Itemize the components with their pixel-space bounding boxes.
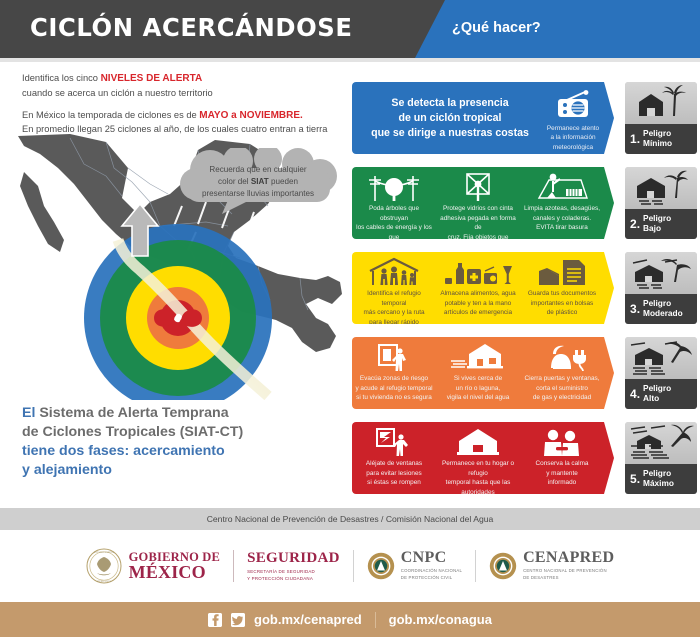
alert-item-3-1: Identifica el refugio temporal más cerca…: [352, 252, 436, 324]
alert-band-1-icon-caption: Permanece atento a la información meteor…: [544, 124, 602, 152]
alert-badge-2-label: 2. PeligroBajo: [625, 209, 697, 239]
band1-msg-line1: Se detecta la presencia: [391, 97, 508, 109]
alert-item-4-2: Si vives cerca de un río o laguna, vigil…: [436, 337, 520, 409]
social-link-conagua[interactable]: gob.mx/conagua: [389, 612, 492, 627]
callout-line-3: presentarse lluvias importantes: [202, 189, 314, 198]
alert-band-4-body: Evacúa zonas de riesgo y acude al refugi…: [352, 337, 614, 409]
header-bar: CICLÓN ACERCÁNDOSE ¿Qué hacer?: [0, 0, 700, 58]
siat-statement: El Sistema de Alerta Temprana de Ciclone…: [22, 404, 322, 480]
documents-folder-icon: [520, 256, 604, 287]
alert-badge-2[interactable]: 2. PeligroBajo: [625, 167, 697, 239]
social-separator: [375, 612, 376, 628]
callout-bubble: Recuerda que en cualquier color del SIAT…: [176, 148, 340, 216]
alert-item-3-1-caption: Identifica el refugio temporal más cerca…: [352, 289, 436, 327]
intro-line-2: cuando se acerca un ciclón a nuestro ter…: [22, 88, 213, 98]
cnpc-emblem: [367, 552, 395, 580]
header-subtitle: ¿Qué hacer?: [452, 20, 541, 36]
logo-bar: ESTADOS UNIDOS MEXICANOS GOBIERNO DE MÉX…: [0, 530, 700, 602]
statement-line-2: de Ciclones Tropicales (SIAT-CT): [22, 424, 243, 440]
alert-badge-1-text: PeligroMínimo: [643, 129, 672, 148]
alert-item-5-3: Conserva la calma y mantente informado: [520, 422, 604, 494]
alert-item-4-2-caption: Si vives cerca de un río o laguna, vigil…: [436, 374, 520, 403]
alert-band-5-columns: Aléjate de ventanas para evitar lesiones…: [352, 422, 604, 494]
callout-text: Recuerda que en cualquier color del SIAT…: [176, 164, 340, 200]
alert-item-5-1-caption: Aléjate de ventanas para evitar lesiones…: [352, 459, 436, 488]
alert-badge-1[interactable]: 1. PeligroMínimo: [625, 82, 697, 154]
gobierno-text: GOBIERNO DE MÉXICO: [129, 551, 220, 581]
intro-line-1a: Identifica los cinco: [22, 73, 101, 83]
callout-siat: SIAT: [251, 177, 269, 186]
logo-cenapred: CENAPRED CENTRO NACIONAL DE PREVENCIÓN D…: [476, 544, 627, 588]
alert-badge-4-number: 4.: [630, 387, 640, 401]
logo-cnpc: CNPC COORDINACIÓN NACIONAL DE PROTECCIÓN…: [354, 544, 475, 588]
alert-item-4-3: Cierra puertas y ventanas, corta el sumi…: [520, 337, 604, 409]
social-link-cenapred[interactable]: gob.mx/cenapred: [254, 612, 362, 627]
credit-text: Centro Nacional de Prevención de Desastr…: [207, 514, 494, 524]
intro-paragraph-1: Identifica los cinco NIVELES DE ALERTA c…: [22, 72, 342, 100]
alert-band-3-body: Identifica el refugio temporal más cerca…: [352, 252, 614, 324]
alert-item-2-3-caption: Limpia azoteas, desagües, canales y cola…: [520, 204, 604, 233]
cenapred-title: CENAPRED: [523, 550, 614, 566]
band1-cap-1: Permanece atento: [547, 125, 599, 132]
alert-levels-list: Se detecta la presencia de un ciclón tro…: [352, 82, 697, 507]
alert-badge-3-text: PeligroModerado: [643, 299, 683, 318]
alert-item-4-1: Evacúa zonas de riesgo y acude al refugi…: [352, 337, 436, 409]
statement-line-1-blue: El: [22, 405, 35, 421]
alert-badge-3-label: 3. PeligroModerado: [625, 294, 697, 324]
statement-line-1-gray: Sistema de Alerta Temprana: [35, 405, 228, 421]
intro-line-3b: MAYO a NOVIEMBRE.: [199, 110, 303, 121]
alert-band-2[interactable]: Poda árboles que obstruyan los cables de…: [352, 167, 697, 239]
alert-item-2-1-caption: Poda árboles que obstruyan los cables de…: [352, 204, 436, 252]
alert-item-5-3-caption: Conserva la calma y mantente informado: [520, 459, 604, 488]
alert-badge-4-text: PeligroAlto: [643, 384, 671, 403]
alert-badge-5-label: 5. PeligroMáximo: [625, 464, 697, 494]
infographic-page: CICLÓN ACERCÁNDOSE ¿Qué hacer? Identific…: [0, 0, 700, 637]
band1-cap-3: meteorológica: [553, 144, 593, 151]
band1-cap-2: a la información: [550, 134, 595, 141]
alert-badge-2-number: 2.: [630, 217, 640, 231]
alert-band-3[interactable]: Identifica el refugio temporal más cerca…: [352, 252, 697, 324]
cnpc-subtitle: COORDINACIÓN NACIONAL DE PROTECCIÓN CIVI…: [401, 568, 462, 581]
credit-bar: Centro Nacional de Prevención de Desastr…: [0, 508, 700, 530]
radio-icon-group: Permanece atento a la información meteor…: [544, 90, 602, 152]
house-palm-wind-icon: [625, 167, 697, 209]
house-palm-destroyed-icon: [625, 422, 697, 464]
gas-electricity-off-icon: [520, 341, 604, 372]
social-bar: gob.mx/cenapred gob.mx/conagua: [0, 602, 700, 637]
band1-msg-line2: de un ciclón tropical: [398, 112, 501, 124]
alert-item-5-1: Aléjate de ventanas para evitar lesiones…: [352, 422, 436, 494]
house-river-icon: [436, 341, 520, 372]
statement-line-4: y alejamiento: [22, 462, 112, 478]
alert-band-3-columns: Identifica el refugio temporal más cerca…: [352, 252, 604, 324]
cenapred-emblem: [489, 552, 517, 580]
evacuate-exit-icon: [352, 341, 436, 372]
alert-item-3-3-caption: Guarda tus documentos importantes en bol…: [520, 289, 604, 318]
alert-band-5[interactable]: Aléjate de ventanas para evitar lesiones…: [352, 422, 697, 494]
alert-item-2-2: Protege vidrios con cinta adhesiva pegad…: [436, 167, 520, 239]
alert-badge-5[interactable]: 5. PeligroMáximo: [625, 422, 697, 494]
radio-icon: [553, 90, 593, 118]
seguridad-title: SEGURIDAD: [247, 550, 340, 567]
supplies-kit-icon: [436, 256, 520, 287]
alert-band-1-body: Se detecta la presencia de un ciclón tro…: [352, 82, 614, 154]
broken-window-away-icon: [352, 426, 436, 457]
alert-item-2-3: Limpia azoteas, desagües, canales y cola…: [520, 167, 604, 239]
alert-item-5-2: Permanece en tu hogar o refugio temporal…: [436, 422, 520, 494]
intro-line-1b: NIVELES DE ALERTA: [101, 73, 203, 84]
tree-powerline-icon: [352, 171, 436, 202]
intro-line-3a: En México la temporada de ciclones es de: [22, 110, 199, 120]
house-palm-calm-icon: [625, 82, 697, 124]
cenapred-subtitle: CENTRO NACIONAL DE PREVENCIÓN DE DESASTR…: [523, 568, 614, 581]
alert-band-5-body: Aléjate de ventanas para evitar lesiones…: [352, 422, 614, 494]
house-palm-flooding-icon: [625, 337, 697, 379]
alert-badge-4[interactable]: 4. PeligroAlto: [625, 337, 697, 409]
alert-band-1-message: Se detecta la presencia de un ciclón tro…: [360, 96, 540, 141]
alert-item-3-2: Almacena alimentos, agua potable y ten a…: [436, 252, 520, 324]
alert-badge-5-text: PeligroMáximo: [643, 469, 674, 488]
statement-line-3: tiene dos fases: acercamiento: [22, 443, 225, 459]
alert-badge-2-text: PeligroBajo: [643, 214, 671, 233]
svg-text:ESTADOS UNIDOS: ESTADOS UNIDOS: [94, 551, 115, 554]
page-title: CICLÓN ACERCÁNDOSE: [30, 13, 352, 42]
logo-gobierno-mexico: ESTADOS UNIDOS MEXICANOS GOBIERNO DE MÉX…: [73, 544, 233, 588]
cenapred-text: CENAPRED CENTRO NACIONAL DE PREVENCIÓN D…: [523, 550, 614, 581]
stay-home-icon: [436, 426, 520, 457]
alert-item-3-2-caption: Almacena alimentos, agua potable y ten a…: [436, 289, 520, 318]
alert-badge-4-label: 4. PeligroAlto: [625, 379, 697, 409]
alert-band-4-columns: Evacúa zonas de riesgo y acude al refugi…: [352, 337, 604, 409]
cnpc-title: CNPC: [401, 550, 462, 566]
alert-band-1[interactable]: Se detecta la presencia de un ciclón tro…: [352, 82, 697, 154]
alert-item-3-3: Guarda tus documentos importantes en bol…: [520, 252, 604, 324]
shelter-family-icon: [352, 256, 436, 287]
alert-badge-5-number: 5.: [630, 472, 640, 486]
sweeping-roof-icon: [520, 171, 604, 202]
logo-seguridad: SEGURIDAD SECRETARÍA DE SEGURIDAD Y PROT…: [234, 544, 353, 588]
alert-band-2-columns: Poda árboles que obstruyan los cables de…: [352, 167, 604, 239]
alert-item-4-1-caption: Evacúa zonas de riesgo y acude al refugi…: [352, 374, 436, 403]
mexican-eagle-emblem: ESTADOS UNIDOS MEXICANOS: [86, 548, 122, 584]
alert-band-4[interactable]: Evacúa zonas de riesgo y acude al refugi…: [352, 337, 697, 409]
house-palm-bending-icon: [625, 252, 697, 294]
band1-msg-line3: que se dirige a nuestras costas: [371, 127, 529, 139]
callout-line-2c: pueden: [269, 177, 298, 186]
callout-line-1: Recuerda que en cualquier: [209, 165, 306, 174]
seguridad-subtitle: SECRETARÍA DE SEGURIDAD Y PROTECCIÓN CIU…: [247, 569, 340, 582]
svg-text:MEXICANOS: MEXICANOS: [97, 580, 112, 583]
alert-band-2-body: Poda árboles que obstruyan los cables de…: [352, 167, 614, 239]
header-divider: [0, 58, 700, 62]
alert-badge-1-label: 1. PeligroMínimo: [625, 124, 697, 154]
alert-badge-3[interactable]: 3. PeligroModerado: [625, 252, 697, 324]
twitter-icon[interactable]: [231, 613, 245, 627]
alert-item-4-3-caption: Cierra puertas y ventanas, corta el sumi…: [520, 374, 604, 403]
window-tape-cross-icon: [436, 171, 520, 202]
alert-badge-1-number: 1.: [630, 132, 640, 146]
callout-line-2a: color del: [218, 177, 251, 186]
gobierno-line-2: MÉXICO: [129, 563, 220, 581]
facebook-icon[interactable]: [208, 613, 222, 627]
alert-item-2-1: Poda árboles que obstruyan los cables de…: [352, 167, 436, 239]
cnpc-text: CNPC COORDINACIÓN NACIONAL DE PROTECCIÓN…: [401, 550, 462, 581]
alert-badge-3-number: 3.: [630, 302, 640, 316]
keep-calm-informed-icon: [520, 426, 604, 457]
